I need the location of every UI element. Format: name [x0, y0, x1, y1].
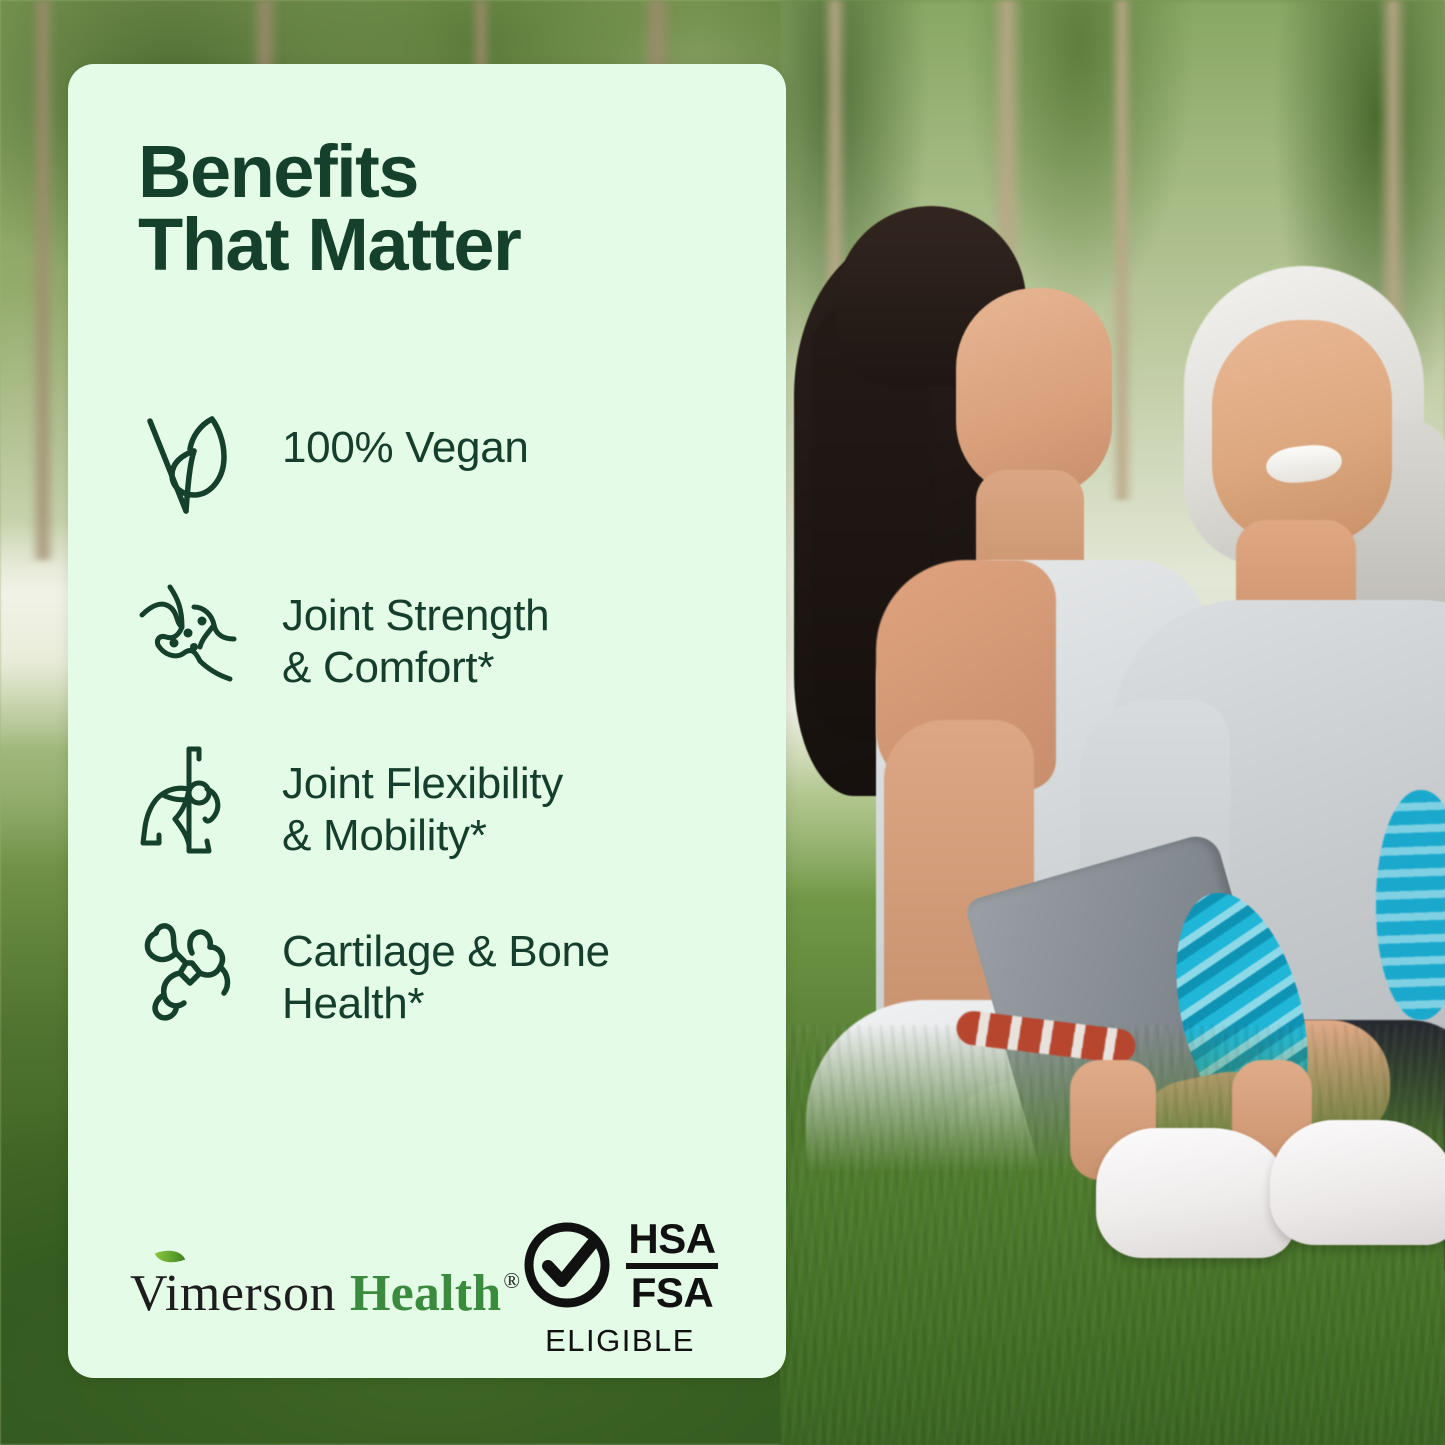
brand-name-second: Health — [350, 1264, 501, 1323]
panel-footer: Vimerson Health ® HSA FSA — [68, 1204, 786, 1374]
list-item-label: Joint Strength & Comfort* — [282, 572, 549, 694]
list-item: Joint Flexibility & Mobility* — [134, 740, 764, 862]
benefits-list: 100% Vegan — [134, 404, 764, 1076]
list-item-label: Cartilage & Bone Health* — [282, 908, 610, 1030]
yoga-triangle-pose-icon — [134, 740, 246, 862]
fsa-label: FSA — [631, 1272, 714, 1314]
product-benefits-graphic: Benefits That Matter 100% Vegan — [0, 0, 1445, 1445]
title-line-2: That Matter — [138, 209, 758, 282]
lifestyle-photo — [780, 0, 1445, 1445]
bone-cartilage-icon — [134, 908, 246, 1030]
list-item: Cartilage & Bone Health* — [134, 908, 764, 1030]
hsa-label: HSA — [628, 1218, 715, 1260]
sneaker-right — [1270, 1120, 1445, 1245]
hsa-fsa-eligible-badge: HSA FSA ELIGIBLE — [520, 1218, 720, 1363]
eligible-label: ELIGIBLE — [520, 1323, 720, 1359]
vimerson-health-logo: Vimerson Health ® — [130, 1264, 518, 1323]
list-item: Joint Strength & Comfort* — [134, 572, 764, 694]
list-item-label: Joint Flexibility & Mobility* — [282, 740, 563, 862]
vegan-leaf-icon — [134, 404, 246, 526]
benefits-panel: Benefits That Matter 100% Vegan — [68, 64, 786, 1378]
list-item: 100% Vegan — [134, 404, 764, 526]
sneaker-left — [1096, 1128, 1296, 1258]
title-line-1: Benefits — [138, 130, 418, 213]
list-item-label: 100% Vegan — [282, 404, 529, 474]
brand-name-first: Vimerson — [130, 1264, 336, 1323]
circle-check-icon — [520, 1218, 614, 1317]
knee-joint-icon — [134, 572, 246, 694]
registered-trademark-symbol: ® — [503, 1268, 520, 1294]
page-title: Benefits That Matter — [138, 136, 758, 281]
